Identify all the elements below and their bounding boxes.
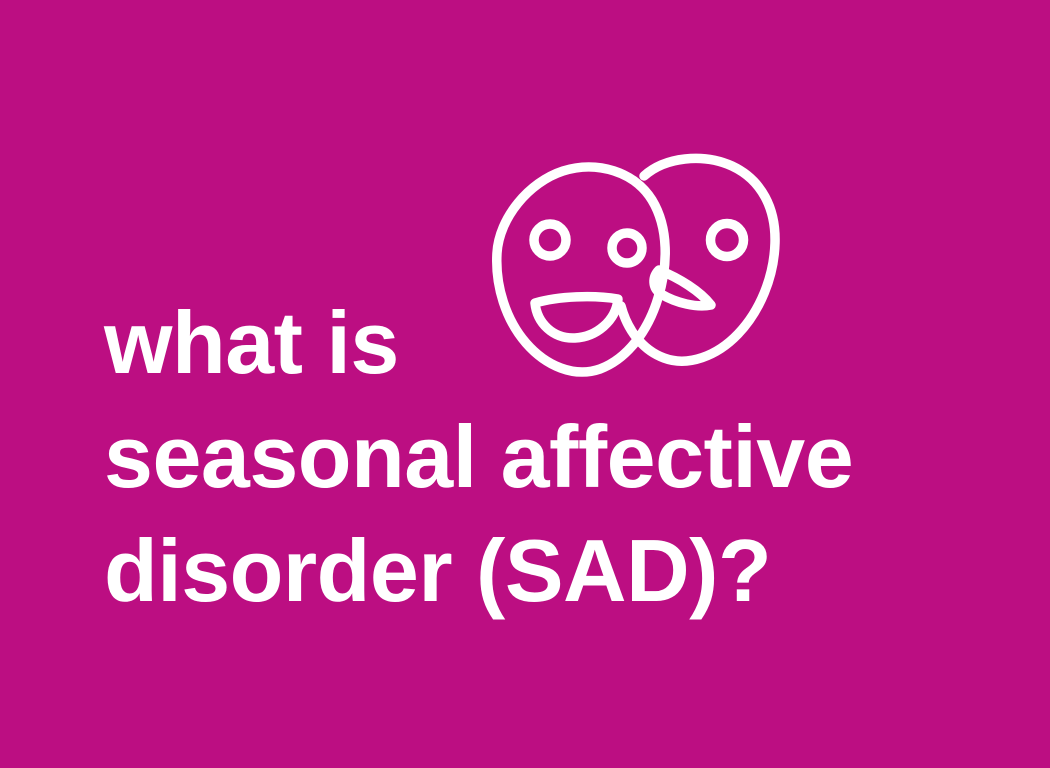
poster-canvas: what is seasonal affective disorder (SAD…	[0, 0, 1050, 768]
smiling-mask-left-eye	[534, 224, 566, 256]
headline-line-1: what is	[104, 286, 1004, 400]
smiling-mask-right-eye	[612, 233, 642, 263]
page-title: what is seasonal affective disorder (SAD…	[104, 286, 1004, 628]
headline-line-2: seasonal affective	[104, 400, 1004, 514]
headline-line-3: disorder (SAD)?	[104, 514, 1004, 628]
frowning-mask-eye	[711, 224, 744, 257]
